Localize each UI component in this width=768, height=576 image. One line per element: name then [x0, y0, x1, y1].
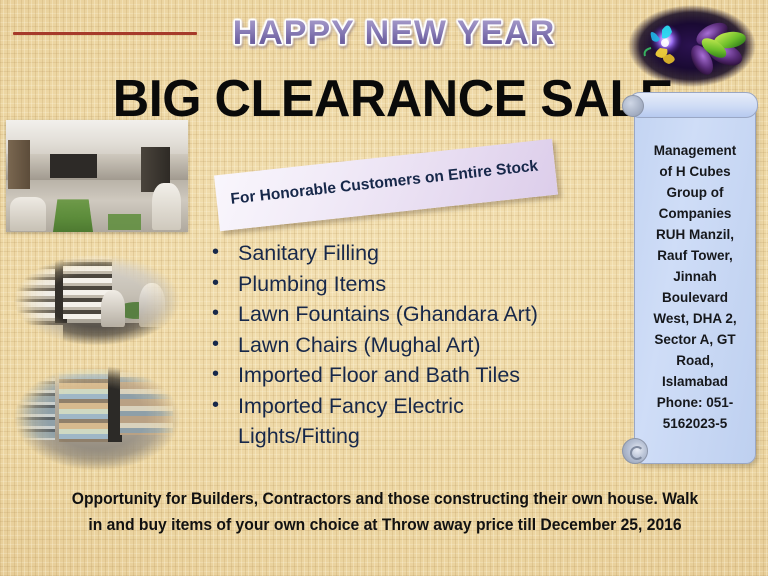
list-item: Imported Floor and Bath Tiles: [200, 360, 600, 391]
flyer-slide: HAPPY NEW YEAR BIG CLEARANCE SALE: [0, 0, 768, 576]
contact-scroll-callout: Management of H Cubes Group of Companies…: [622, 92, 756, 476]
contact-line: West, DHA 2,: [642, 308, 748, 329]
footer-line-1: Opportunity for Builders, Contractors an…: [57, 486, 713, 512]
photo-showroom-interior: [6, 120, 188, 232]
contact-line: RUH Manzil,: [642, 224, 748, 245]
scroll-bottom-curl-icon: [622, 438, 648, 464]
contact-line: Sector A, GT: [642, 329, 748, 350]
contact-line: Companies: [642, 203, 748, 224]
photo-sanitary-display: [2, 248, 192, 352]
contact-line: Islamabad: [642, 371, 748, 392]
contact-line: Road,: [642, 350, 748, 371]
contact-line: Jinnah: [642, 266, 748, 287]
contact-line: Management: [642, 140, 748, 161]
footer-text: Opportunity for Builders, Contractors an…: [57, 486, 713, 538]
contact-line: Boulevard: [642, 287, 748, 308]
list-item-continuation: Lights/Fitting: [200, 421, 600, 452]
promo-banner: For Honorable Customers on Entire Stock: [214, 139, 558, 231]
list-item: Plumbing Items: [200, 269, 600, 300]
contact-line: 5162023-5: [642, 413, 748, 434]
scroll-top-curl-icon: [622, 95, 644, 117]
page-title: BIG CLEARANCE SALE: [113, 72, 617, 126]
promo-banner-text: For Honorable Customers on Entire Stock: [230, 158, 539, 209]
footer-line-2: in and buy items of your own choice at T…: [57, 512, 713, 538]
floral-butterfly-icon: [626, 4, 758, 88]
list-item: Lawn Chairs (Mughal Art): [200, 330, 600, 361]
list-item: Sanitary Filling: [200, 238, 600, 269]
contact-line: Phone: 051-: [642, 392, 748, 413]
list-item: Imported Fancy Electric: [200, 391, 600, 422]
scroll-top-roll: [628, 92, 758, 118]
contact-line: of H Cubes: [642, 161, 748, 182]
contact-line: Rauf Tower,: [642, 245, 748, 266]
product-list: Sanitary Filling Plumbing Items Lawn Fou…: [200, 238, 600, 452]
contact-line: Group of: [642, 182, 748, 203]
contact-text: Management of H Cubes Group of Companies…: [642, 140, 748, 434]
list-item: Lawn Fountains (Ghandara Art): [200, 299, 600, 330]
photo-tile-samples: [2, 358, 192, 478]
